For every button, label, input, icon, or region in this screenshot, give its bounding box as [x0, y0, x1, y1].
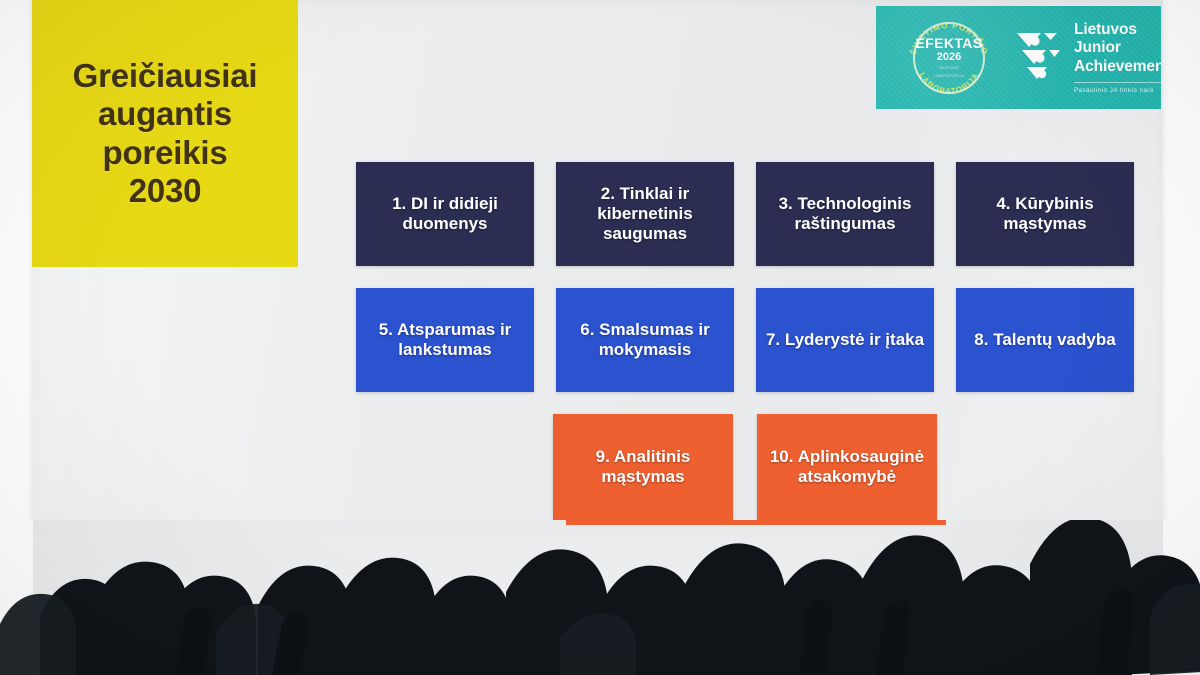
title-line-3: poreikis [73, 134, 258, 172]
ja-line-2: Junior [1074, 39, 1161, 57]
title-line-2: augantis [73, 95, 258, 133]
title-line-4: 2030 [73, 172, 258, 210]
competency-cell-5: 5. Atsparumas ir lankstumas [356, 288, 534, 392]
badge-main-text: EFEKTAS [915, 36, 982, 50]
screenshot-stage: Greičiausiai augantis poreikis 2030 ŠVIE… [0, 0, 1200, 675]
competency-row-blue: 5. Atsparumas ir lankstumas 6. Smalsumas… [356, 288, 1134, 392]
badge-sub-line-2: LABORATORIJA [934, 74, 965, 79]
ja-divider [1074, 82, 1161, 83]
slide-title-block: Greičiausiai augantis poreikis 2030 [32, 0, 298, 267]
competency-cell-4: 4. Kūrybinis mąstymas [956, 162, 1134, 266]
competency-cell-6: 6. Smalsumas ir mokymasis [556, 288, 734, 392]
ja-triangle-icon [1011, 31, 1063, 85]
slide-title: Greičiausiai augantis poreikis 2030 [65, 57, 266, 210]
title-line-1: Greičiausiai [73, 57, 258, 95]
badge-year-text: 2026 [937, 50, 961, 64]
badge-core: EFEKTAS 2026 ŠVIETIMO LABORATORIJA [903, 12, 995, 104]
sponsor-logo-block: ŠVIETIMO PORYČIO LABORATORIJA EFEKTAS 20… [876, 6, 1161, 109]
ja-tagline: Pasaulinio JA tinklo narė [1074, 87, 1161, 94]
competency-cell-10: 10. Aplinkosauginė atsakomybė [757, 414, 937, 520]
ja-line-3: Achievement [1074, 58, 1161, 76]
competency-cell-2: 2. Tinklai ir kibernetinis saugumas [556, 162, 734, 266]
competency-grid: 1. DI ir didieji duomenys 2. Tinklai ir … [356, 162, 1134, 542]
competency-row-orange: 9. Analitinis mąstymas 10. Aplinkosaugin… [356, 414, 1134, 520]
competency-cell-3: 3. Technologinis raštingumas [756, 162, 934, 266]
competency-cell-7: 7. Lyderystė ir įtaka [756, 288, 934, 392]
competency-cell-8: 8. Talentų vadyba [956, 288, 1134, 392]
ja-wordmark: Lietuvos Junior Achievement Pasaulinio J… [1074, 21, 1161, 94]
efektas-badge-icon: ŠVIETIMO PORYČIO LABORATORIJA EFEKTAS 20… [903, 12, 995, 104]
screen-right-edge [1163, 0, 1169, 570]
ja-line-1: Lietuvos [1074, 21, 1161, 39]
competency-cell-9: 9. Analitinis mąstymas [553, 414, 733, 520]
badge-sub-line-1: ŠVIETIMO [939, 66, 959, 71]
competency-cell-1: 1. DI ir didieji duomenys [356, 162, 534, 266]
audience-silhouettes [0, 520, 1200, 675]
junior-achievement-lockup: Lietuvos Junior Achievement Pasaulinio J… [1011, 21, 1161, 94]
competency-row-navy: 1. DI ir didieji duomenys 2. Tinklai ir … [356, 162, 1134, 266]
audience-heads-svg [0, 520, 1200, 675]
